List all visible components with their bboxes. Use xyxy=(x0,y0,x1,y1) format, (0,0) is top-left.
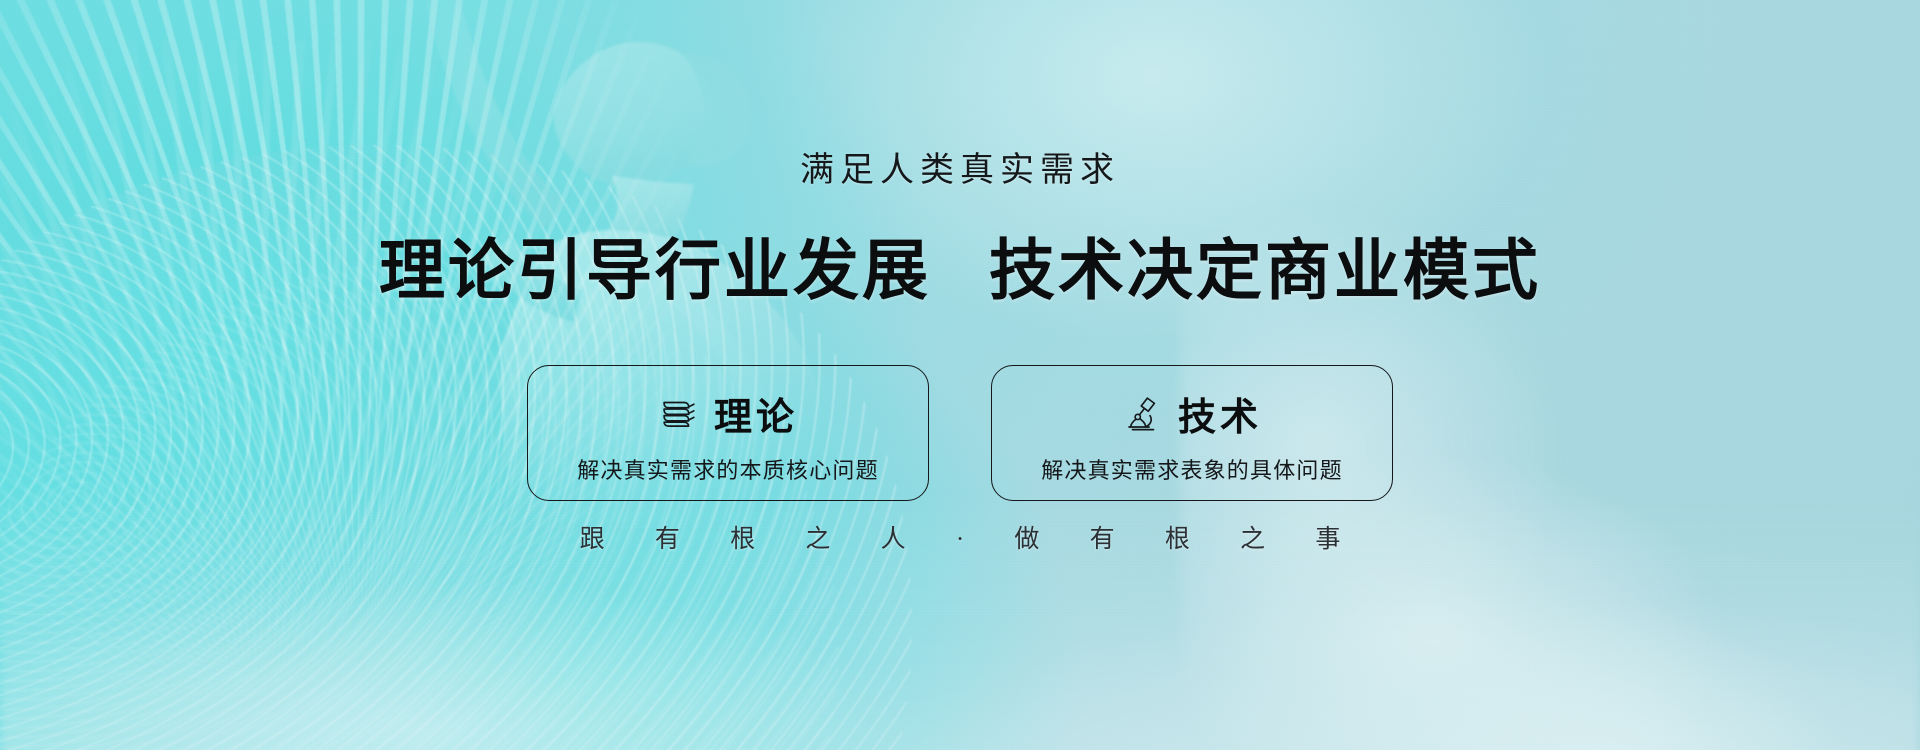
headline-right-phrase: 技术决定商业模式 xyxy=(989,217,1541,313)
feature-card-technology[interactable]: 技术 解决真实需求表象的具体问题 xyxy=(991,365,1393,501)
feature-card-theory-head: 理论 xyxy=(658,386,798,441)
feature-card-theory-title: 理论 xyxy=(714,386,798,441)
feature-card-group: 理论 解决真实需求的本质核心问题 xyxy=(527,365,1393,501)
hero-banner: 满足人类真实需求 理论引导行业发展 技术决定商业模式 xyxy=(0,0,1920,750)
feature-card-technology-description: 解决真实需求表象的具体问题 xyxy=(1041,453,1343,485)
feature-card-theory[interactable]: 理论 解决真实需求的本质核心问题 xyxy=(527,365,929,501)
headline-left-phrase: 理论引导行业发展 xyxy=(379,217,931,313)
feature-card-technology-head: 技术 xyxy=(1122,386,1262,441)
banner-headline: 理论引导行业发展 技术决定商业模式 xyxy=(379,217,1541,313)
feature-card-technology-title: 技术 xyxy=(1178,386,1262,441)
banner-subtitle: 满足人类真实需求 xyxy=(800,142,1120,191)
book-icon xyxy=(658,392,700,434)
banner-tagline: 跟 有 根 之 人 · 做 有 根 之 事 xyxy=(0,519,1920,555)
feature-card-theory-description: 解决真实需求的本质核心问题 xyxy=(577,453,879,485)
microscope-icon xyxy=(1122,392,1164,434)
banner-content: 满足人类真实需求 理论引导行业发展 技术决定商业模式 xyxy=(0,0,1920,750)
